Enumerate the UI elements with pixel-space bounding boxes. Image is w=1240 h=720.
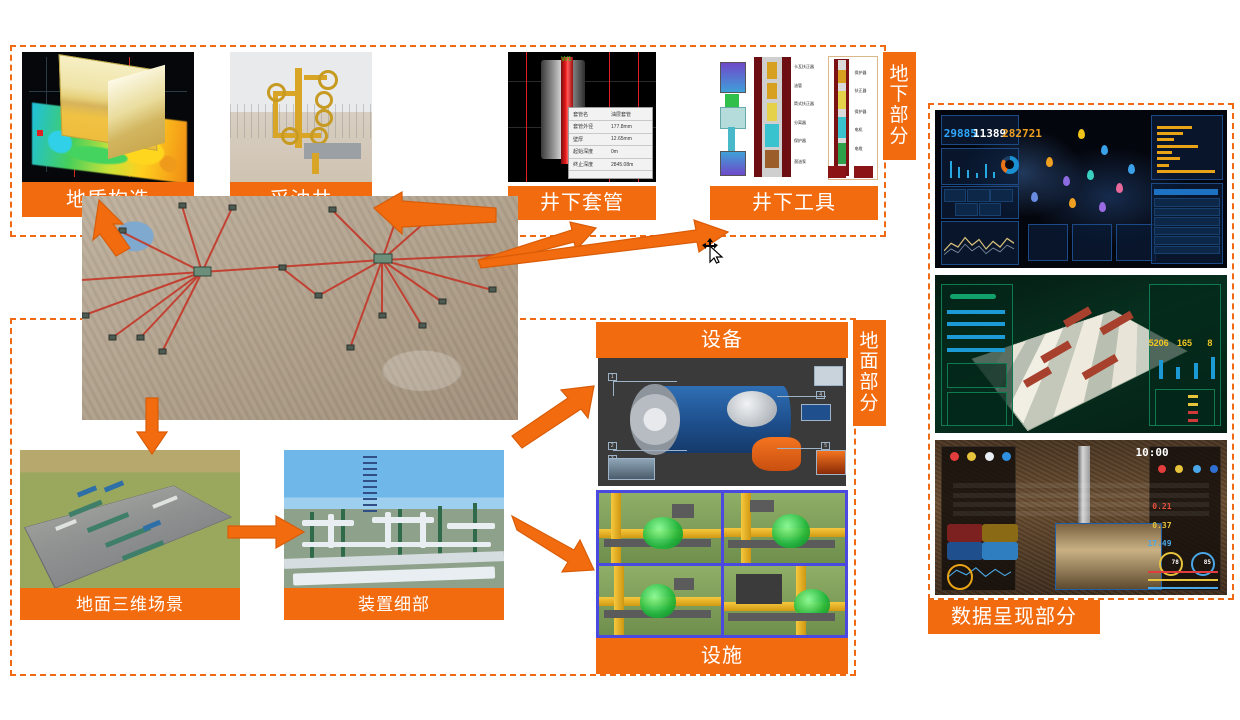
caption-equipment[interactable]: 设备 (596, 322, 848, 358)
metric-value: 11389 (973, 127, 1006, 140)
arrow-plant-to-facility (512, 510, 596, 574)
tile-downhole-tools-image[interactable]: 卡瓦扶正器 油管 筒式扶正器 分离器 保护器 潜油泵 保护器 扶正器 保护器 电… (710, 52, 878, 182)
arrow-ground-scene-to-plant-detail (228, 516, 304, 548)
dashboard-downhole-monitor[interactable]: 10:00 0.21 0.37 17.49 78 85 (935, 440, 1227, 595)
trend-sparkline (944, 230, 1014, 258)
metric-value: 8 (1207, 338, 1212, 348)
tile-downhole-casing-image[interactable]: W1 套管名油层套管 套管外径177.8mm 壁厚12.65mm 起始深度0m … (508, 52, 656, 182)
caption-facility[interactable]: 设施 (596, 638, 848, 674)
diagram-canvas: 地质构造 采油井 W1 (0, 0, 1240, 720)
arrow-map-to-ground-scene (135, 398, 169, 454)
tile-ground-3d-scene-image[interactable] (20, 450, 240, 590)
tile-facility-image[interactable] (596, 490, 848, 638)
metric-value: 5206 (1149, 338, 1169, 348)
dashboard-station-3d[interactable]: 5206 165 8 (935, 275, 1227, 433)
caption-downhole-casing[interactable]: 井下套管 (508, 186, 656, 220)
tile-geology-image[interactable] (22, 52, 194, 182)
metric-value: 78 (1172, 559, 1179, 566)
caption-data-panel[interactable]: 数据呈现部分 (928, 600, 1100, 634)
facility-view-4 (724, 566, 846, 636)
move-cursor (702, 238, 728, 264)
caption-plant-detail[interactable]: 装置细部 (284, 588, 504, 620)
facility-view-3 (599, 566, 721, 636)
arrow-map-to-geology (88, 198, 158, 258)
table-row: 壁厚12.65mm (569, 134, 652, 147)
metric-value: 282721 (1002, 127, 1042, 140)
table-row: 起始深度0m (569, 146, 652, 159)
section-label-surface: 地面部分 (853, 320, 886, 426)
casing-property-table: 套管名油层套管 套管外径177.8mm 壁厚12.65mm 起始深度0m 终止深… (568, 107, 653, 179)
tile-equipment-image[interactable]: 1 2 3 4 5 (598, 358, 846, 486)
section-label-underground-text: 地下部分 (889, 65, 909, 147)
facility-view-2 (724, 493, 846, 563)
metric-value: 0.37 (1152, 521, 1171, 530)
tile-oil-well-image[interactable] (230, 52, 372, 182)
metric-value: 17.49 (1147, 539, 1171, 548)
table-row: 套管外径177.8mm (569, 121, 652, 134)
metric-value: 85 (1204, 559, 1211, 566)
section-label-underground: 地下部分 (883, 52, 916, 160)
dashboard-oilfield-overview[interactable]: 29885 11389 282721 (935, 110, 1227, 268)
arrow-map-to-downhole-tools (478, 220, 728, 268)
metric-value: 10:00 (1135, 446, 1168, 459)
metric-value: 29885 (944, 127, 977, 140)
tile-plant-detail-image[interactable] (284, 450, 504, 590)
caption-downhole-tools[interactable]: 井下工具 (710, 186, 878, 220)
metric-value: 165 (1177, 338, 1192, 348)
facility-view-1 (599, 493, 721, 563)
casing-well-marker: W1 (561, 56, 572, 63)
caption-ground-3d-scene[interactable]: 地面三维场景 (20, 588, 240, 620)
section-label-surface-text: 地面部分 (859, 332, 879, 414)
metric-value: 0.21 (1152, 502, 1171, 511)
arrow-plant-to-equipment (512, 386, 596, 450)
table-row: 套管名油层套管 (569, 108, 652, 121)
table-row: 终止深度2845.08m (569, 159, 652, 172)
